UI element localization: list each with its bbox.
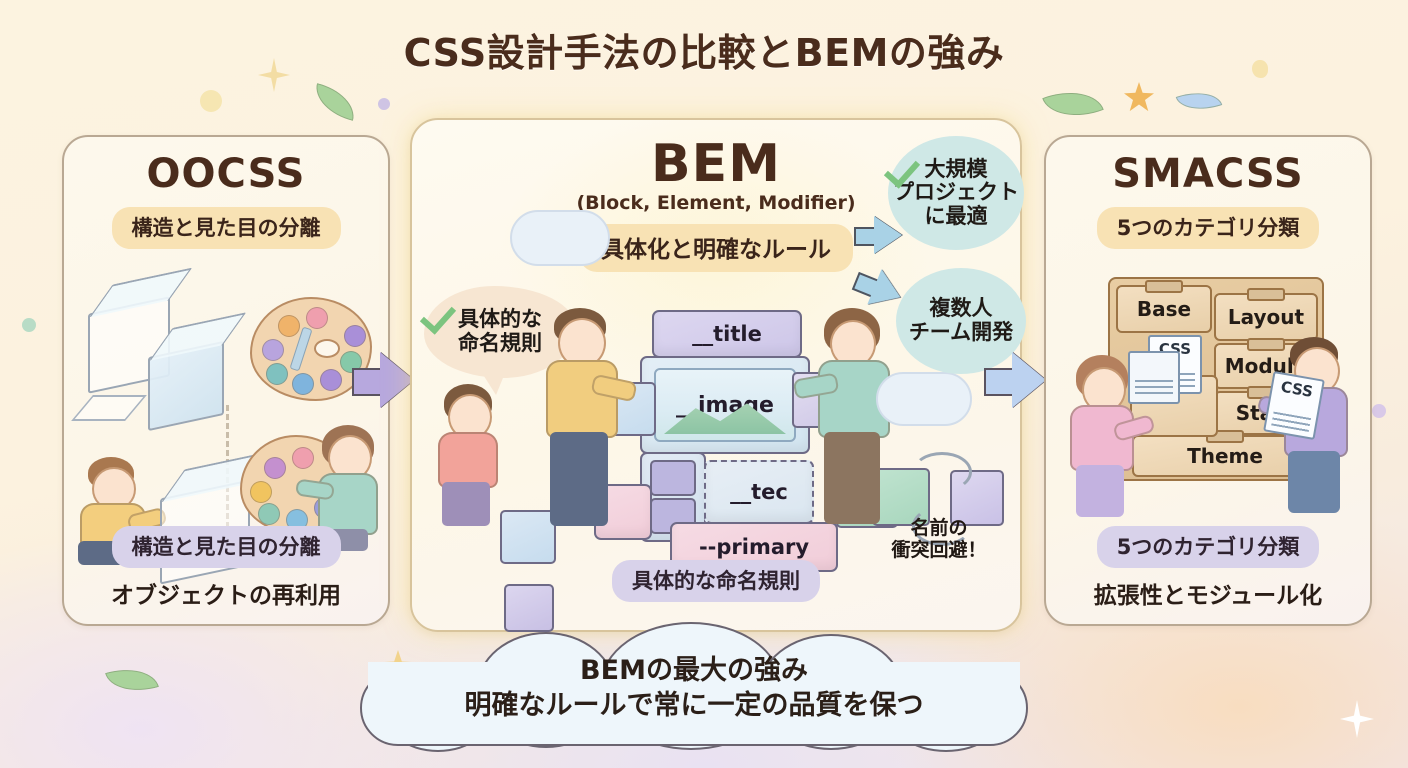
smacss-footer: 5つのカテゴリ分類 拡張性とモジュール化 <box>1046 516 1370 610</box>
cloud-decor-left <box>510 210 610 266</box>
paint-dot <box>266 363 288 385</box>
paint-dot <box>306 307 328 329</box>
bubble-text: 具体的な 命名規則 <box>458 308 542 355</box>
bubble-text: 複数人 チーム開発 <box>909 297 1013 344</box>
arrow-head <box>1012 352 1046 408</box>
bubble-line-2: 命名規則 <box>458 332 542 356</box>
legs <box>1076 465 1124 517</box>
dot-icon-left-mid <box>22 318 36 332</box>
bubble-line-3: に最適 <box>893 205 1019 229</box>
paper-lines <box>1271 412 1311 432</box>
bem-footer: 具体的な命名規則 <box>412 550 1020 602</box>
drawer-label: Layout <box>1228 305 1304 329</box>
bottom-banner-text: BEMの最大の強み 明確なルールで常に一定の品質を保つ <box>344 654 1044 723</box>
paint-dot <box>264 457 286 479</box>
solid-cube-small <box>148 341 224 431</box>
block-image-inner: __image <box>654 368 796 442</box>
cube-shadow-outline <box>71 395 147 421</box>
dot-icon-right-mid <box>1372 404 1386 418</box>
dot-icon-top-left <box>200 90 222 112</box>
bubble-line-2: プロジェクト <box>893 181 1019 205</box>
drawer-handle <box>1247 288 1285 301</box>
drawer-layout: Layout <box>1214 293 1318 341</box>
block-label: __tec <box>730 480 788 504</box>
arrow-oocss-to-bem <box>352 352 414 408</box>
sparkle-icon-bottom-right <box>1340 700 1374 738</box>
bubble-line-1: 具体的な <box>458 308 542 332</box>
paint-dot <box>344 325 366 347</box>
bubble-line-2: チーム開発 <box>909 321 1013 345</box>
cube-top-face <box>89 268 192 318</box>
paper-label: CSS <box>1279 378 1314 401</box>
bottom-banner-cloud: BEMの最大の強み 明確なルールで常に一定の品質を保つ <box>344 626 1044 750</box>
bem-bottom-badge: 具体的な命名規則 <box>612 560 820 602</box>
bubble-large-project: 大規模 プロジェクト に最適 <box>888 136 1024 250</box>
page-title: CSS設計手法の比較とBEMの強み <box>0 22 1408 77</box>
oocss-top-badge: 構造と見た目の分離 <box>112 207 341 249</box>
bubble-line-1: 複数人 <box>909 297 1013 321</box>
paint-dot <box>250 481 272 503</box>
drawer-handle <box>1145 280 1183 293</box>
torso <box>546 360 618 438</box>
inner-square-top <box>650 460 696 496</box>
paint-dot <box>320 369 342 391</box>
block-tec: __tec <box>704 460 814 524</box>
oocss-bottom-text: オブジェクトの再利用 <box>64 576 388 610</box>
paint-dot <box>292 373 314 395</box>
legs <box>824 432 880 524</box>
dot-icon-upper-left <box>378 98 390 110</box>
collision-note-line-1: 名前の <box>874 518 1004 540</box>
block-title: __title <box>652 310 802 358</box>
legs <box>442 482 490 526</box>
css-paper-held-right: CSS <box>1263 371 1325 440</box>
smacss-bottom-text: 拡張性とモジュール化 <box>1046 576 1370 610</box>
leaf-icon-bottom-left <box>105 660 159 700</box>
drawer-label: Theme <box>1187 444 1263 468</box>
leaf-icon-blue-top-right <box>1176 84 1223 118</box>
swap-arrow-icon <box>912 452 972 492</box>
cloud-decor-right <box>876 372 972 426</box>
panel-oocss: OOCSS 構造と見た目の分離 <box>62 135 390 626</box>
block-label: __title <box>692 322 762 346</box>
oocss-bottom-badge: 構造と見た目の分離 <box>112 526 341 568</box>
oocss-footer: 構造と見た目の分離 オブジェクトの再利用 <box>64 516 388 610</box>
bottom-banner-line-2: 明確なルールで常に一定の品質を保つ <box>344 689 1044 724</box>
person-woman-left-smacss <box>1064 355 1150 525</box>
paint-dot <box>262 339 284 361</box>
person-child-left <box>436 384 522 532</box>
oocss-heading: OOCSS <box>64 151 388 197</box>
drawer-label: Base <box>1137 297 1191 321</box>
paint-dot <box>292 447 314 469</box>
leaf-icon-top-left <box>310 83 359 121</box>
star-icon-top-right <box>1124 82 1154 112</box>
infographic-canvas: CSS設計手法の比較とBEMの強み OOCSS 構造と見た目の分離 <box>0 0 1408 768</box>
bem-top-badge: 具体化と明確なルール <box>579 224 853 272</box>
legs <box>1288 451 1340 513</box>
legs <box>550 432 608 526</box>
panel-smacss: SMACSS 5つのカテゴリ分類 Base Layout Module Stat… <box>1044 135 1372 626</box>
smacss-bottom-badge: 5つのカテゴリ分類 <box>1097 526 1320 568</box>
block-image: __image <box>640 356 810 454</box>
arrow-head <box>380 352 414 408</box>
paint-dot <box>278 315 300 337</box>
person-man-center <box>536 308 646 536</box>
smacss-heading: SMACSS <box>1046 151 1370 197</box>
palette-thumbhole <box>314 339 340 358</box>
torso <box>438 432 498 488</box>
bottom-banner-line-1: BEMの最大の強み <box>344 654 1044 689</box>
drawer-base: Base <box>1116 285 1212 333</box>
leaf-icon-top-right <box>1042 80 1104 129</box>
arrow-bem-to-smacss <box>984 352 1046 408</box>
smacss-top-badge: 5つのカテゴリ分類 <box>1097 207 1320 249</box>
